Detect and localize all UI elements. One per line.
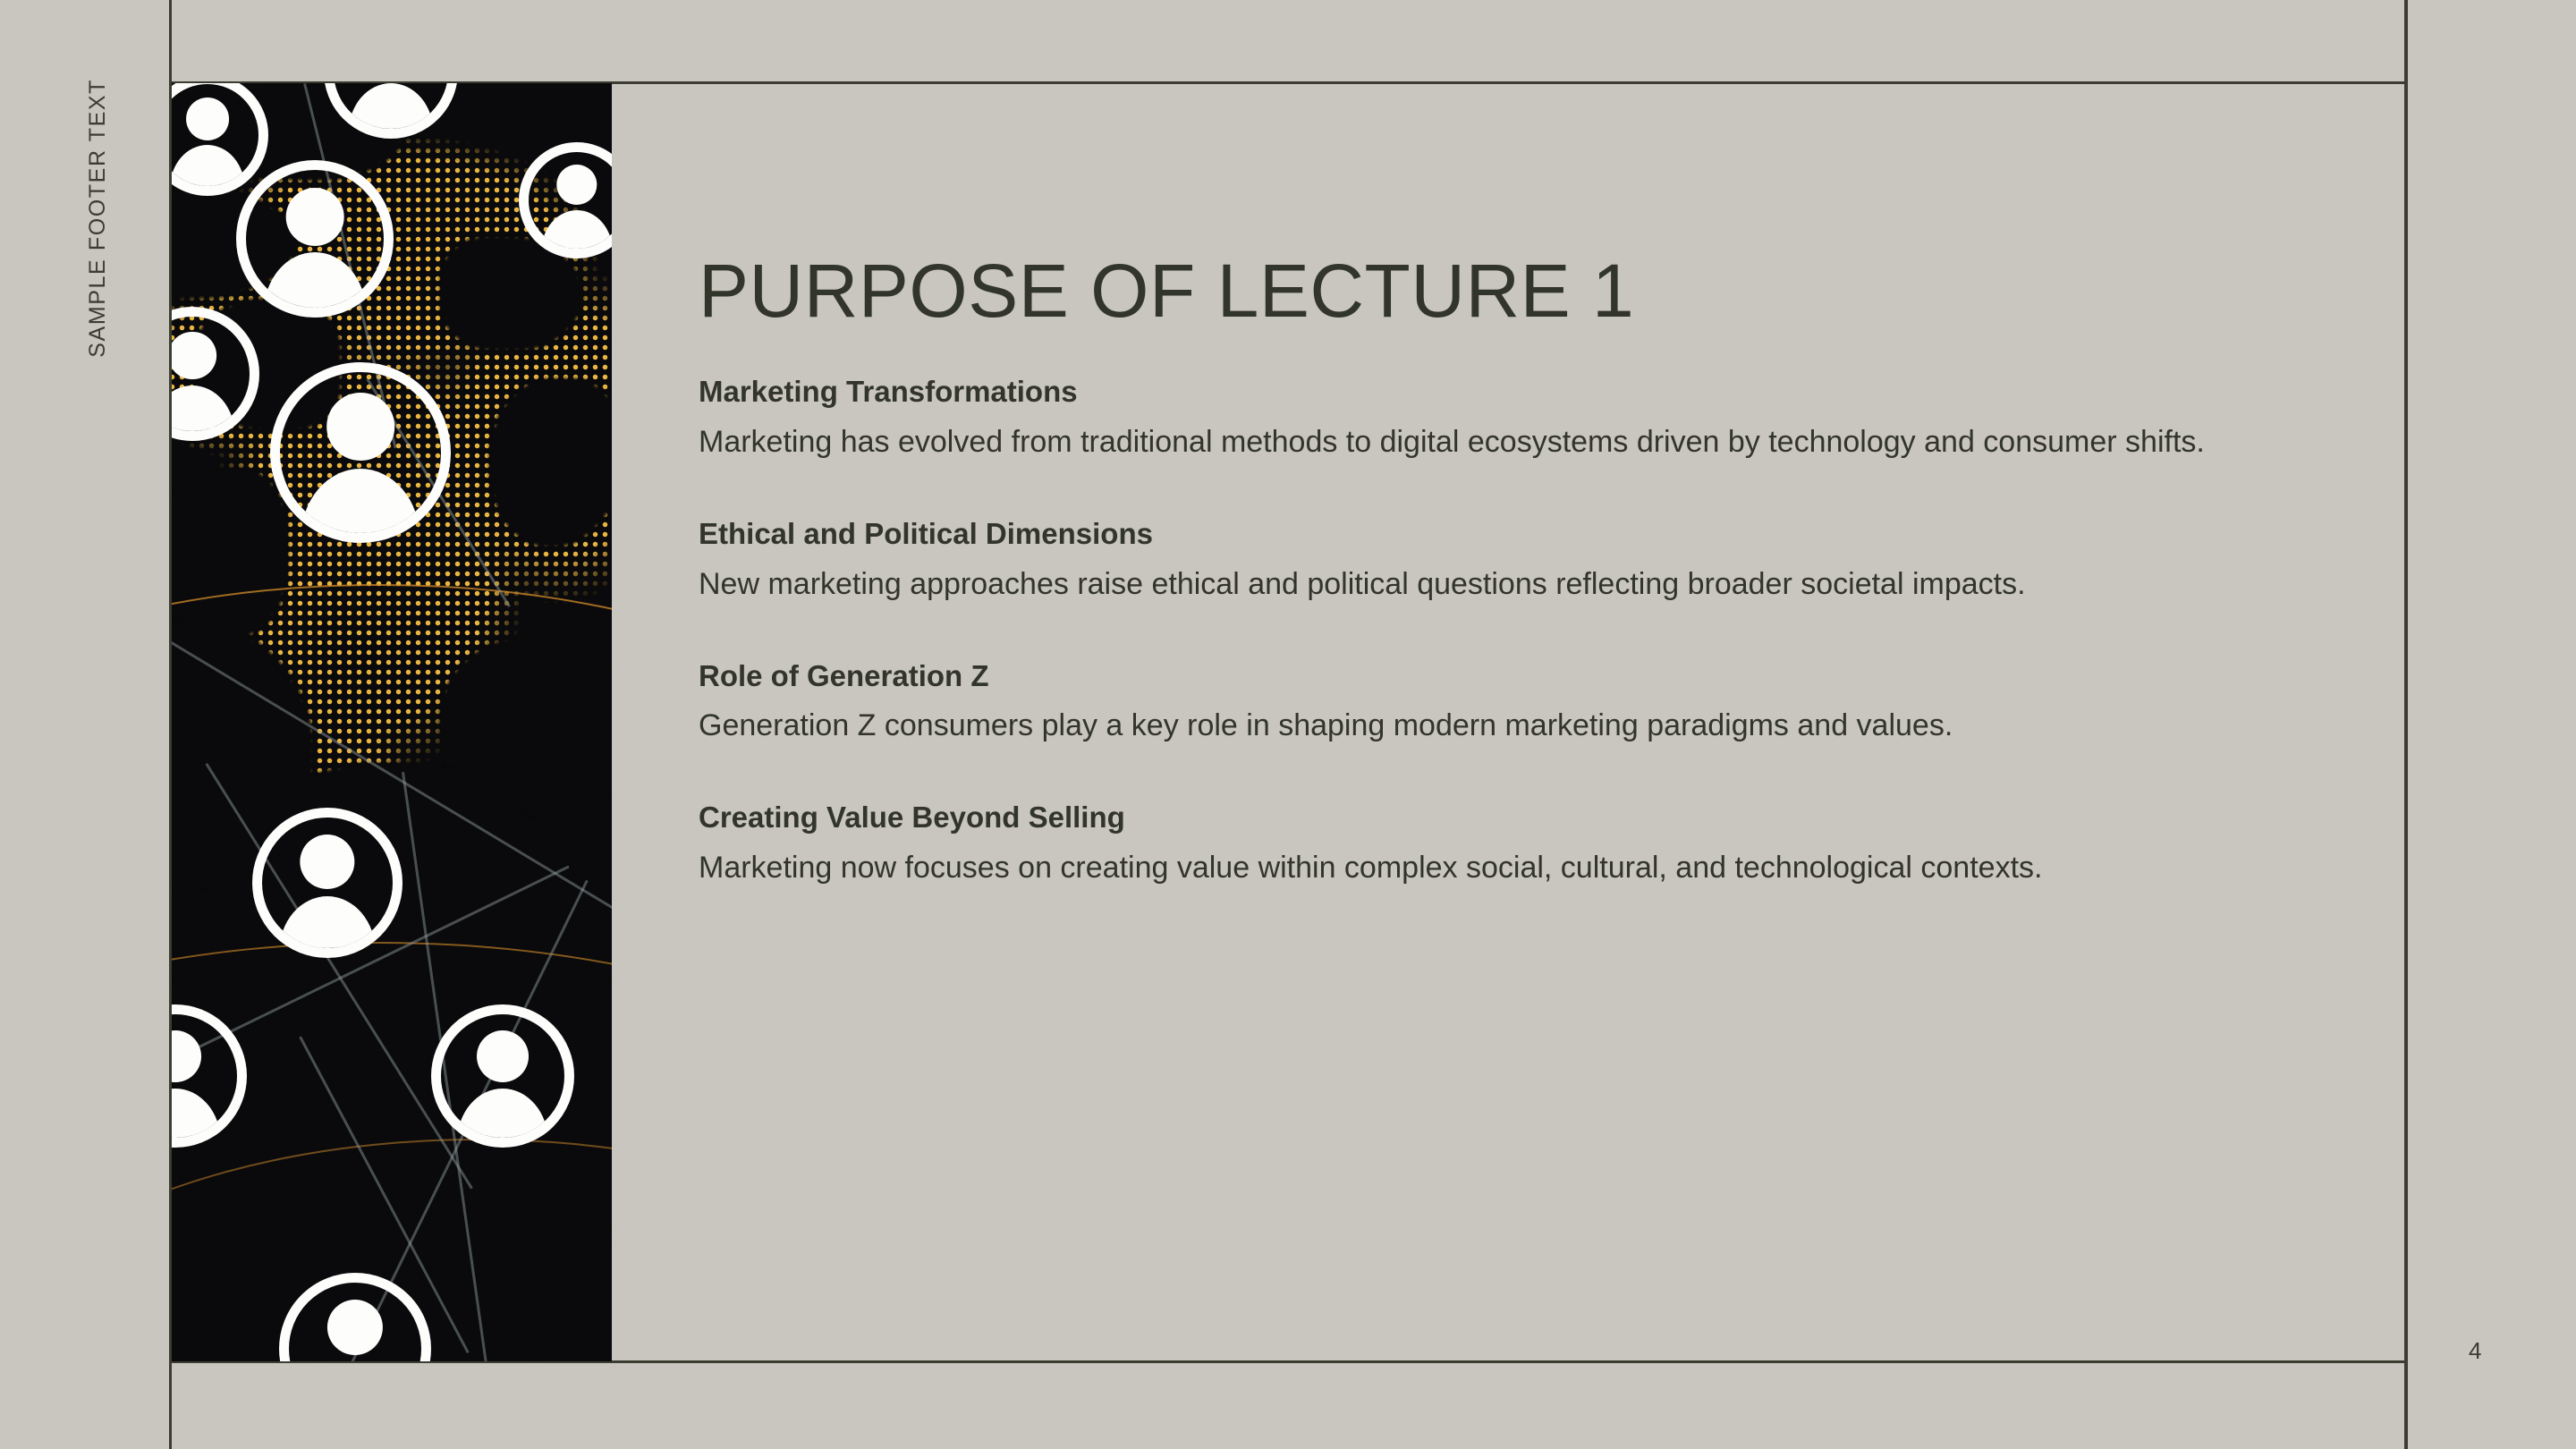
avatar-head <box>172 332 216 380</box>
right-vertical-rule <box>2404 0 2408 1449</box>
avatar-body <box>457 1089 548 1148</box>
avatar-head <box>326 393 394 461</box>
avatar-head <box>556 165 597 205</box>
content-block: Creating Value Beyond Selling Marketing … <box>699 801 2255 887</box>
page-title: PURPOSE OF LECTURE 1 <box>699 83 2255 328</box>
user-avatar-icon <box>431 1004 574 1148</box>
block-heading: Creating Value Beyond Selling <box>699 801 2255 835</box>
avatar-head <box>286 188 344 246</box>
block-heading: Ethical and Political Dimensions <box>699 517 2255 551</box>
avatar-head <box>477 1030 529 1082</box>
content-block: Marketing Transformations Marketing has … <box>699 375 2255 462</box>
slide-image-panel <box>172 83 612 1361</box>
content-block: Ethical and Political Dimensions New mar… <box>699 517 2255 604</box>
avatar-head <box>186 97 229 140</box>
avatar-body <box>172 145 245 196</box>
avatar-body <box>301 469 419 543</box>
avatar-head <box>172 1030 201 1082</box>
block-body: Marketing has evolved from traditional m… <box>699 423 2250 462</box>
avatar-head <box>300 835 354 889</box>
avatar-body <box>279 896 376 958</box>
content-blocks: Marketing Transformations Marketing has … <box>699 375 2255 887</box>
footer-text-container: SAMPLE FOOTER TEXT <box>0 0 170 1449</box>
avatar-body <box>541 210 612 258</box>
globe-network-graphic <box>172 83 612 1361</box>
page-number: 4 <box>2469 1337 2481 1365</box>
block-heading: Role of Generation Z <box>699 659 2255 693</box>
footer-text: SAMPLE FOOTER TEXT <box>85 79 111 358</box>
continent-cutout <box>489 378 612 548</box>
avatar-body <box>264 252 366 318</box>
avatar-head <box>327 1300 383 1355</box>
block-heading: Marketing Transformations <box>699 375 2255 409</box>
slide-content: PURPOSE OF LECTURE 1 Marketing Transform… <box>699 83 2255 887</box>
content-block: Role of Generation Z Generation Z consum… <box>699 659 2255 746</box>
user-avatar-icon <box>252 808 402 958</box>
user-avatar-icon <box>270 362 451 543</box>
user-avatar-icon <box>236 160 394 318</box>
block-body: New marketing approaches raise ethical a… <box>699 565 2250 604</box>
slide-canvas: SAMPLE FOOTER TEXT <box>0 0 2576 1449</box>
avatar-body <box>349 83 434 139</box>
block-body: Generation Z consumers play a key role i… <box>699 707 2250 745</box>
block-body: Marketing now focuses on creating value … <box>699 849 2250 887</box>
